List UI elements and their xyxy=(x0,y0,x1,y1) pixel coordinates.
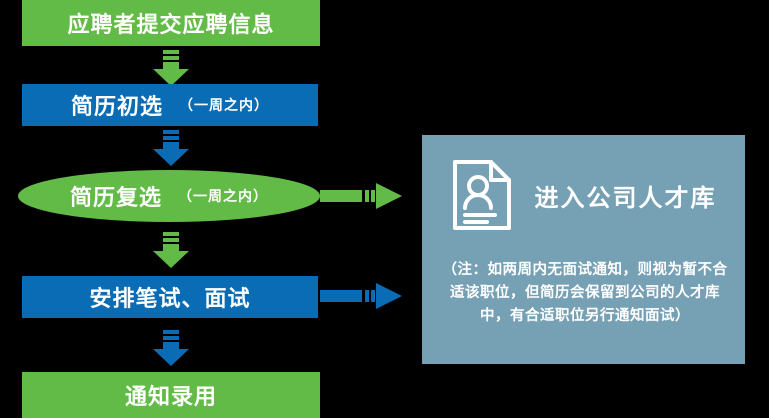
flow-node-offer-label: 通知录用 xyxy=(125,379,217,411)
flow-node-resume-screening-2-label: 简历复选 xyxy=(70,180,162,212)
flow-node-submit[interactable]: 应聘者提交应聘信息 xyxy=(22,0,320,46)
connector-interview-to-talentpool xyxy=(320,283,402,309)
flow-node-resume-screening-2[interactable]: 简历复选 （一周之内） xyxy=(18,170,320,222)
flow-node-offer[interactable]: 通知录用 xyxy=(22,372,320,418)
connector-screen1-to-screen2 xyxy=(150,130,192,166)
connector-interview-to-offer xyxy=(150,330,192,366)
flowchart-canvas: 应聘者提交应聘信息 简历初选 （一周之内） 简历复选 （一周之内） xyxy=(0,0,769,418)
talent-pool-title: 进入公司人才库 xyxy=(535,178,717,213)
flow-node-resume-screening-1[interactable]: 简历初选 （一周之内） xyxy=(22,84,318,126)
talent-pool-panel: 进入公司人才库 （注：如两周内无面试通知，则视为暂不合适该职位，但简历会保留到公… xyxy=(422,135,745,364)
flow-node-submit-label: 应聘者提交应聘信息 xyxy=(67,7,274,39)
connector-screen2-to-talentpool xyxy=(320,183,402,209)
flow-node-interview-label: 安排笔试、面试 xyxy=(89,281,250,313)
flow-node-resume-screening-2-note: （一周之内） xyxy=(178,186,268,206)
talent-pool-header: 进入公司人才库 xyxy=(422,152,745,238)
connector-submit-to-screen1 xyxy=(150,50,192,86)
flow-node-resume-screening-1-note: （一周之内） xyxy=(179,95,269,115)
talent-pool-note: （注：如两周内无面试通知，则视为暂不合适该职位，但简历会保留到公司的人才库中，有… xyxy=(440,259,730,328)
resume-person-document-icon xyxy=(451,158,513,232)
connector-screen2-to-interview xyxy=(150,232,192,268)
flow-node-interview[interactable]: 安排笔试、面试 xyxy=(22,276,318,318)
flow-node-resume-screening-1-label: 简历初选 xyxy=(71,89,163,121)
